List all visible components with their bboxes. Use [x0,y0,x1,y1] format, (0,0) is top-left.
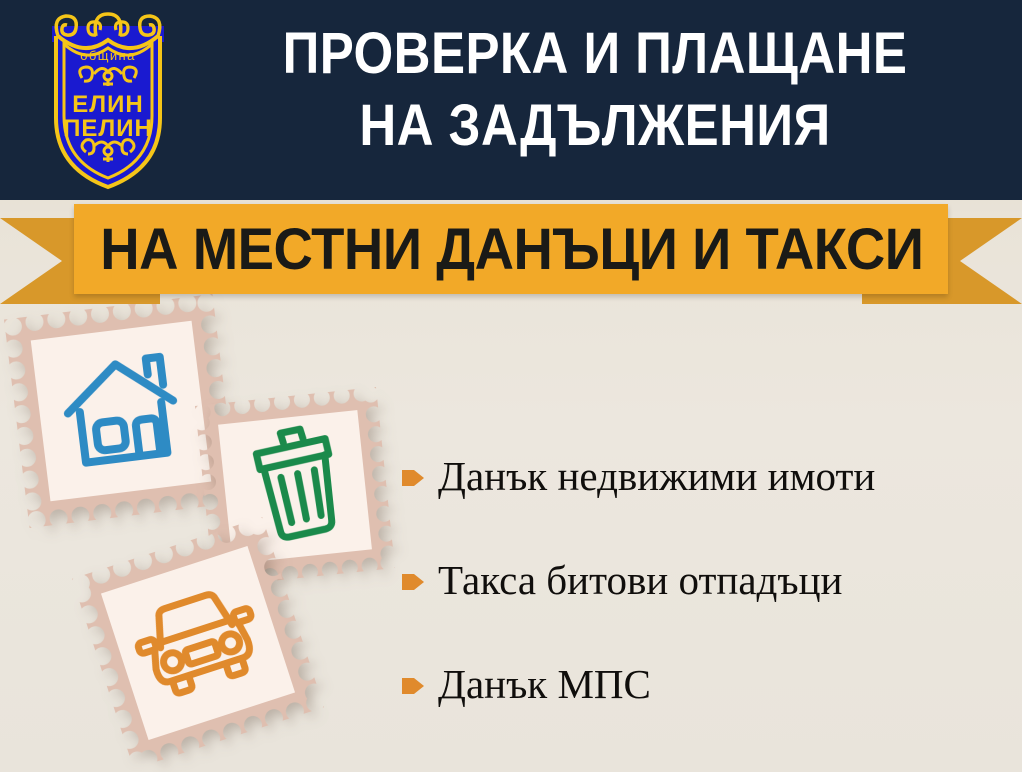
bullet-arrow-icon [400,673,426,699]
list-item-label: Данък недвижими имоти [438,453,875,499]
crest-line-main-1: ЕЛИН [72,91,143,118]
ribbon-label: НА МЕСТНИ ДАНЪЦИ И ТАКСИ [100,204,922,294]
poster-canvas: ПРОВЕРКА И ПЛАЩАНЕ НА ЗАДЪЛЖЕНИЯ община [0,0,1022,772]
ribbon-banner: НА МЕСТНИ ДАНЪЦИ И ТАКСИ [0,196,1022,304]
bullet-arrow-icon [400,465,426,491]
list-item-label: Данък МПС [438,661,651,707]
page-title: ПРОВЕРКА И ПЛАЩАНЕ НА ЗАДЪЛЖЕНИЯ [230,18,960,162]
list-item[interactable]: Такса битови отпадъци [400,528,1010,632]
list-item-label: Такса битови отпадъци [438,557,842,603]
list-item[interactable]: Данък МПС [400,632,1010,736]
crest-icon: община ЕЛИН ПЕЛИН [42,6,174,191]
bullet-arrow-icon [400,569,426,595]
municipality-crest-logo: община ЕЛИН ПЕЛИН [42,6,174,191]
crest-line-top: община [80,48,135,63]
tax-type-list: Данък недвижими имоти Такса битови отпад… [400,424,1010,736]
list-item[interactable]: Данък недвижими имоти [400,424,1010,528]
crest-line-main-2: ПЕЛИН [63,115,153,142]
